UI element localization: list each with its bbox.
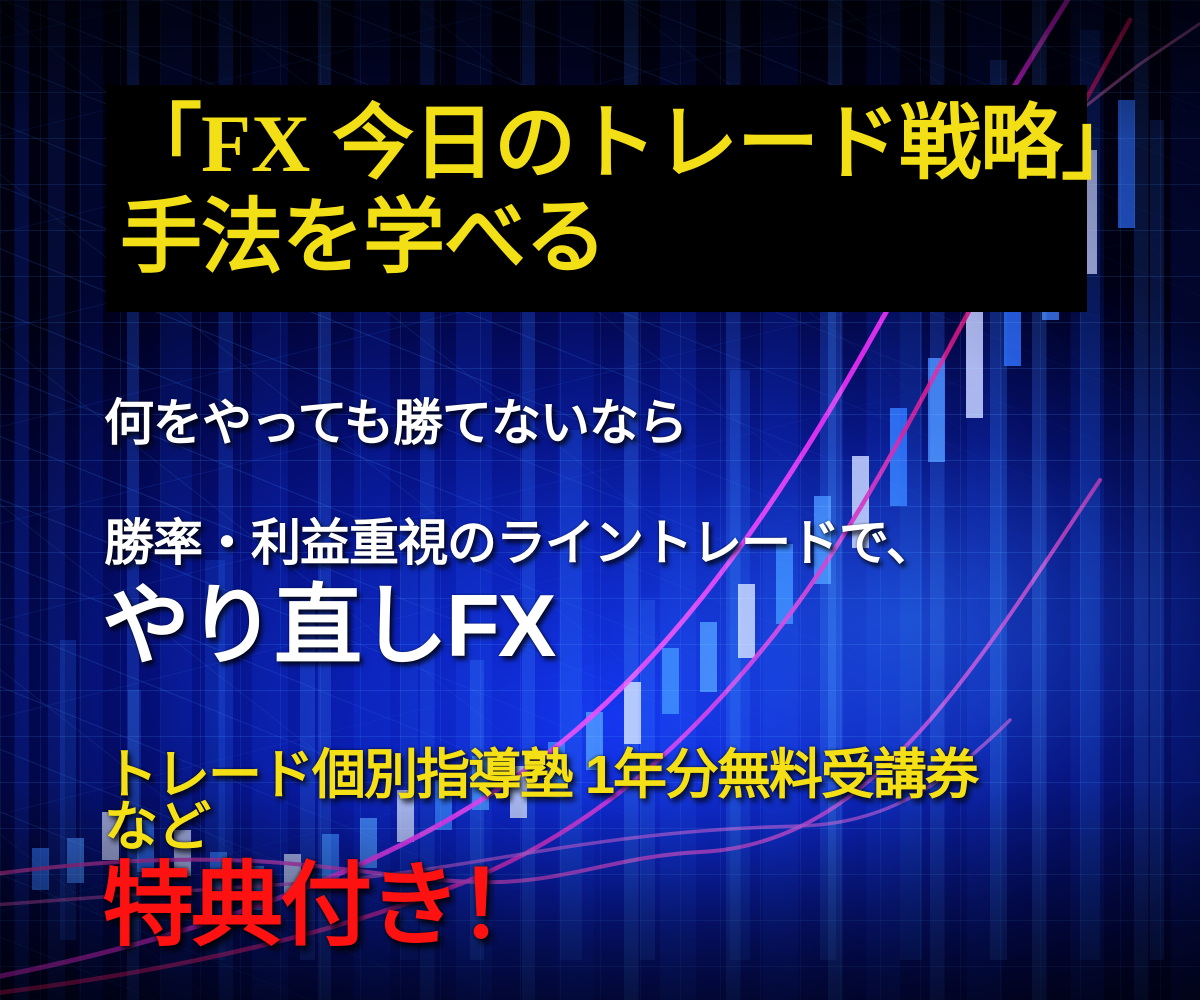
bonus-line-2: など xyxy=(104,800,210,854)
lead-line-1: 何をやっても勝てないなら xyxy=(104,398,687,448)
title-line-1: 「FX 今日のトレード戦略」 xyxy=(120,103,1142,185)
title-line-2: 手法を学べる xyxy=(120,197,606,279)
title-open-bracket: 「 xyxy=(120,98,201,189)
title-line-1-rest: 今日のトレード戦略」 xyxy=(310,98,1142,189)
bonus-line-1: トレード個別指導塾 1年分無料受講券 xyxy=(104,748,977,802)
promo-banner: 「FX 今日のトレード戦略」 手法を学べる 何をやっても勝てないなら 勝率・利益… xyxy=(0,0,1200,1000)
bonus-highlight-tokuten-tsuki: 特典付き！ xyxy=(102,860,547,952)
banner-content: 「FX 今日のトレード戦略」 手法を学べる 何をやっても勝てないなら 勝率・利益… xyxy=(0,0,1200,1000)
lead-headline-yarinaoshi-fx: やり直しFX xyxy=(102,582,554,670)
title-black-box: 「FX 今日のトレード戦略」 手法を学べる xyxy=(106,85,1087,312)
title-fx-label: FX xyxy=(201,98,310,189)
lead-line-2: 勝率・利益重視のライントレードで、 xyxy=(104,518,935,568)
